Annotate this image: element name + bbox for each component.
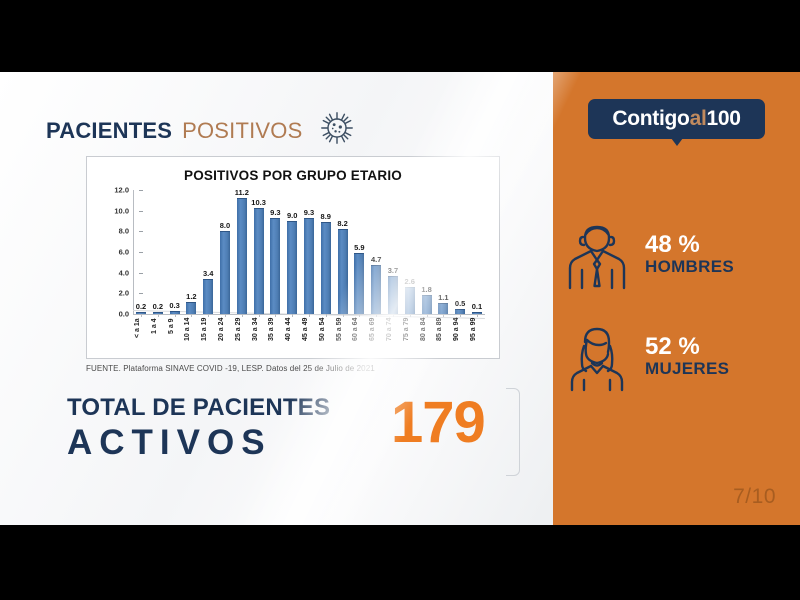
letterbox-bottom (0, 525, 800, 600)
y-axis-tick-label: 2.0 (119, 289, 129, 298)
page-number: 7/10 (733, 485, 776, 509)
bar-value-label: 1.2 (186, 292, 196, 301)
bar-column: 5.9 (352, 190, 366, 314)
bar-value-label: 8.2 (337, 219, 347, 228)
bar-column: 8.0 (218, 190, 232, 314)
bar-column: 0.2 (134, 190, 148, 314)
y-axis-tick-label: 10.0 (114, 206, 129, 215)
x-axis-tick-label: 80 a 84 (420, 318, 434, 362)
x-axis-tick-label: 5 a 9 (168, 318, 182, 362)
bar-column: 3.4 (201, 190, 215, 314)
bar: 10.3 (254, 208, 264, 314)
bar-value-label: 3.7 (388, 266, 398, 275)
brand-logo: Contigoal100 (588, 99, 765, 139)
bar-column: 9.3 (268, 190, 282, 314)
bar-column: 9.0 (285, 190, 299, 314)
x-axis-tick (208, 314, 209, 317)
bar: 8.9 (321, 222, 331, 314)
bar-value-label: 1.8 (421, 285, 431, 294)
bar-column: 0.2 (151, 190, 165, 314)
bar: 3.7 (388, 276, 398, 314)
x-axis-tick (326, 314, 327, 317)
x-axis-tick (410, 314, 411, 317)
bar: 1.1 (438, 303, 448, 314)
bar-value-label: 1.1 (438, 293, 448, 302)
x-axis-tick (477, 314, 478, 317)
stat-label-hombres: HOMBRES (645, 257, 800, 277)
x-axis-tick (225, 314, 226, 317)
bar-value-label: 0.2 (136, 302, 146, 311)
bar: 2.6 (405, 287, 415, 314)
stat-text-hombres: 48 % HOMBRES (641, 232, 800, 278)
total-label-line2: ACTIVOS (67, 423, 272, 463)
bar-series: 0.20.20.31.23.48.011.210.39.39.09.38.98.… (134, 190, 484, 314)
bar: 1.2 (186, 302, 196, 314)
x-axis-tick-label: 50 a 54 (319, 318, 333, 362)
bar-value-label: 11.2 (235, 188, 249, 197)
bar-column: 10.3 (252, 190, 266, 314)
bar-column: 11.2 (235, 190, 249, 314)
x-axis-tick (191, 314, 192, 317)
x-axis-tick-label: 35 a 39 (268, 318, 282, 362)
bar-value-label: 9.3 (270, 208, 280, 217)
sidebar-panel: Contigoal100 (553, 72, 800, 525)
logo-text-part3: 100 (707, 107, 741, 130)
x-axis-tick (141, 314, 142, 317)
x-axis-tick-label: 30 a 34 (252, 318, 266, 362)
slide-header: PACIENTES POSITIVOS (46, 109, 356, 152)
bar-column: 0.3 (168, 190, 182, 314)
stat-row-hombres: 48 % HOMBRES (553, 212, 800, 298)
bar-value-label: 9.3 (304, 208, 314, 217)
bar-column: 1.2 (184, 190, 198, 314)
bar-column: 1.8 (420, 190, 434, 314)
x-axis-tick-label: 60 a 64 (352, 318, 366, 362)
bar-value-label: 5.9 (354, 243, 364, 252)
x-axis-tick-label: 55 a 59 (336, 318, 350, 362)
x-axis-tick (158, 314, 159, 317)
bar-value-label: 0.2 (153, 302, 163, 311)
letterbox-top (0, 0, 800, 72)
bar-column: 4.7 (369, 190, 383, 314)
logo-text-part1: Contigo (612, 107, 689, 130)
bar: 9.3 (304, 218, 314, 314)
bar: 4.7 (371, 265, 381, 314)
presentation-slide: PACIENTES POSITIVOS (0, 72, 800, 525)
y-axis-tick-label: 12.0 (114, 186, 129, 195)
x-axis-tick-label: 70 a 74 (386, 318, 400, 362)
chart-card: POSITIVOS POR GRUPO ETARIO 0.02.04.06.08… (86, 156, 500, 359)
slide-main-content: PACIENTES POSITIVOS (0, 72, 553, 525)
logo-text: Contigoal100 (612, 107, 740, 131)
x-axis-tick-label: 85 a 89 (436, 318, 450, 362)
stat-percent-mujeres: 52 % (645, 334, 800, 359)
x-axis-tick (393, 314, 394, 317)
bar-value-label: 2.6 (405, 277, 415, 286)
x-axis-tick (427, 314, 428, 317)
bar: 9.0 (287, 221, 297, 314)
x-axis-tick (309, 314, 310, 317)
source-note: FUENTE. Plataforma SINAVE COVID -19, LES… (86, 364, 375, 373)
stat-percent-hombres: 48 % (645, 232, 800, 257)
total-box-bracket (506, 388, 520, 476)
x-axis-tick-label: 40 a 44 (285, 318, 299, 362)
x-axis-tick (460, 314, 461, 317)
y-axis-tick-label: 6.0 (119, 248, 129, 257)
x-axis-tick (343, 314, 344, 317)
bar: 1.8 (422, 295, 432, 314)
x-axis-tick (275, 314, 276, 317)
bar-value-label: 3.4 (203, 269, 213, 278)
x-axis-tick-label: 10 a 14 (184, 318, 198, 362)
x-axis-tick-label: 65 a 69 (369, 318, 383, 362)
x-axis-tick (376, 314, 377, 317)
x-axis-tick (242, 314, 243, 317)
bar: 5.9 (354, 253, 364, 314)
bar: 9.3 (270, 218, 280, 314)
x-axis-tick (259, 314, 260, 317)
bar-value-label: 4.7 (371, 255, 381, 264)
bar-column: 1.1 (436, 190, 450, 314)
x-axis-tick (175, 314, 176, 317)
logo-text-part2: al (690, 107, 707, 130)
bar: 8.2 (338, 229, 348, 314)
y-axis-tick-label: 4.0 (119, 268, 129, 277)
bar-value-label: 0.3 (169, 301, 179, 310)
y-axis-tick-label: 0.0 (119, 310, 129, 319)
bar: 11.2 (237, 198, 247, 314)
header-title-light: POSITIVOS (182, 118, 302, 144)
x-axis-tick-label: 15 a 19 (201, 318, 215, 362)
total-patients-box: TOTAL DE PACIENTES ACTIVOS 179 (54, 388, 520, 476)
bar-value-label: 8.0 (220, 221, 230, 230)
x-axis-tick (443, 314, 444, 317)
bar: 8.0 (220, 231, 230, 314)
bar-column: 2.6 (403, 190, 417, 314)
x-axis-tick-label: 45 a 49 (302, 318, 316, 362)
x-axis-tick-label: < a 1a (134, 318, 148, 362)
stat-label-mujeres: MUJERES (645, 359, 800, 379)
x-axis-tick (292, 314, 293, 317)
chart-title: POSITIVOS POR GRUPO ETARIO (87, 168, 499, 183)
bar-column: 0.1 (470, 190, 484, 314)
y-axis-labels: 0.02.04.06.08.010.012.0 (97, 190, 129, 314)
bar-column: 9.3 (302, 190, 316, 314)
total-label-line1: TOTAL DE PACIENTES (67, 394, 330, 422)
x-axis-tick (359, 314, 360, 317)
bar-column: 0.5 (453, 190, 467, 314)
x-axis-tick-label: 90 a 94 (453, 318, 467, 362)
man-icon (553, 220, 641, 290)
bar: 3.4 (203, 279, 213, 314)
x-axis-tick-label: 1 a 4 (151, 318, 165, 362)
x-axis-tick-label: 25 a 29 (235, 318, 249, 362)
x-axis-labels: < a 1a1 a 45 a 910 a 1415 a 1920 a 2425 … (134, 318, 484, 362)
x-axis-tick-label: 20 a 24 (218, 318, 232, 362)
virus-icon (318, 109, 356, 152)
bar-column: 8.2 (336, 190, 350, 314)
bar-value-label: 0.5 (455, 299, 465, 308)
woman-icon (553, 322, 641, 392)
bar-value-label: 8.9 (321, 212, 331, 221)
bar-value-label: 9.0 (287, 211, 297, 220)
stat-text-mujeres: 52 % MUJERES (641, 334, 800, 380)
chart-plot-area: 0.02.04.06.08.010.012.0 0.20.20.31.23.48… (87, 190, 501, 360)
stat-row-mujeres: 52 % MUJERES (553, 314, 800, 400)
bar-column: 8.9 (319, 190, 333, 314)
y-axis-tick-label: 8.0 (119, 227, 129, 236)
bar-column: 3.7 (386, 190, 400, 314)
x-axis-tick-label: 75 a 79 (403, 318, 417, 362)
x-axis-tick-label: 95 a 99 (470, 318, 484, 362)
bar-value-label: 0.1 (472, 302, 482, 311)
screenshot-root: PACIENTES POSITIVOS (0, 0, 800, 600)
total-value: 179 (391, 394, 485, 452)
header-title-bold: PACIENTES (46, 118, 172, 144)
bar-value-label: 10.3 (251, 198, 266, 207)
